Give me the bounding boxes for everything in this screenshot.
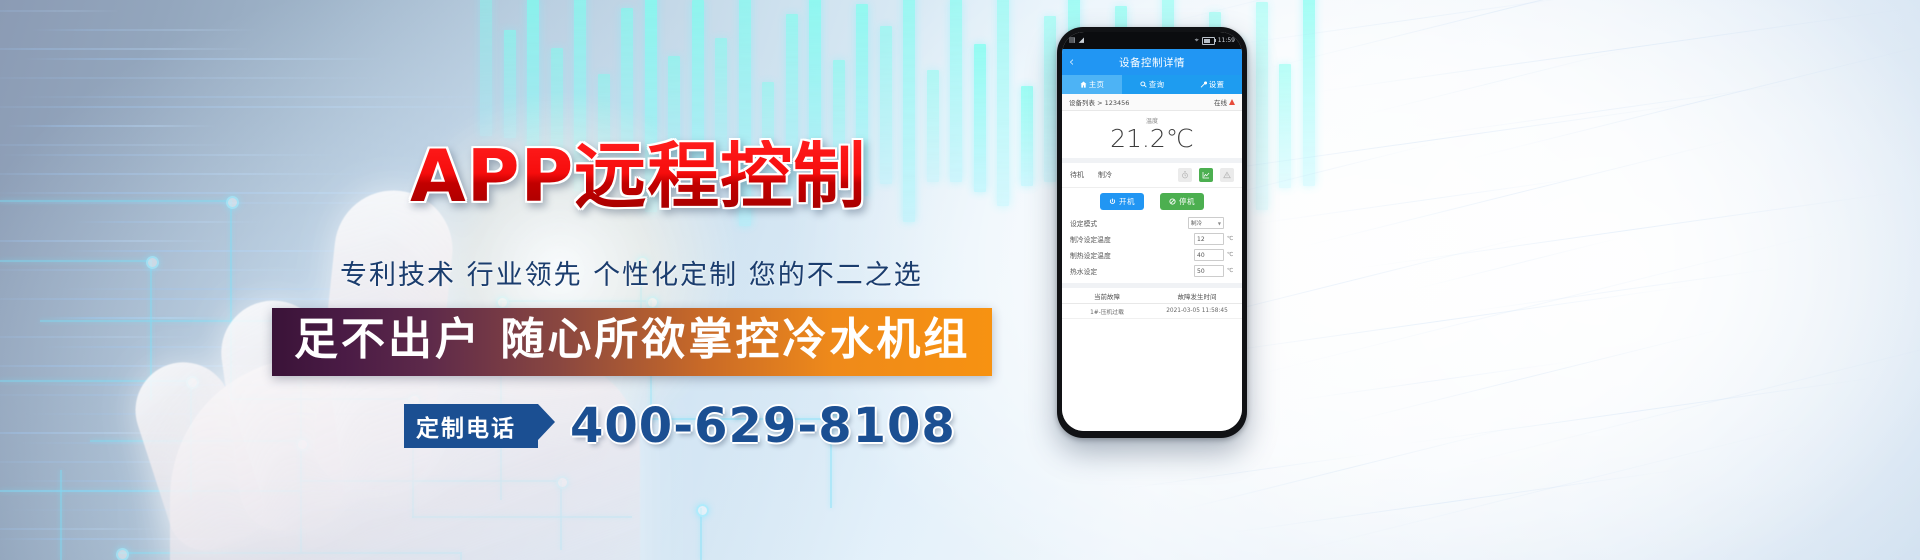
tel-number[interactable]: 400-629-8108 [570,398,956,454]
wrench-icon [1200,81,1207,88]
highlight-banner: 足不出户 随心所欲掌控冷水机组 [272,308,992,376]
setting-mode-label: 设定模式 [1070,218,1097,228]
action-buttons: 开机 停机 [1062,188,1242,214]
tab-bar: 主页 查询 设置 [1062,75,1242,94]
breadcrumb: 设备列表 > 123456 在线 [1062,94,1242,111]
sim-card-icon: ▤ [1069,37,1076,44]
status-bar-right: ⌖ 11:59 [1195,37,1235,45]
power-off-label: 停机 [1179,196,1195,207]
fault-table: 当前故障 故障发生时间 1#-压机过载 2021-03-05 11:58:45 [1062,283,1242,431]
setting-heat-temp-control: 40 ℃ [1194,249,1234,261]
fault-cell-name: 1#-压机过载 [1062,307,1152,316]
back-icon[interactable]: ‹ [1069,56,1074,69]
status-bar-time: 11:59 [1218,37,1235,44]
power-on-label: 开机 [1119,196,1135,207]
chart-icon[interactable] [1199,168,1213,182]
battery-icon [1202,37,1215,45]
tab-home-label: 主页 [1089,79,1105,90]
copy-block: APP远程控制 专利技术 行业领先 个性化定制 您的不二之选 足不出户 随心所欲… [0,0,1060,560]
temperature-display: 温度 21.2℃ [1062,111,1242,163]
tab-search-label: 查询 [1149,79,1165,90]
fault-col-name: 当前故障 [1062,291,1152,301]
device-status-label: 在线 [1214,97,1227,107]
chevron-down-icon: ▼ [1218,221,1221,226]
fault-cell-time: 2021-03-05 11:58:45 [1152,308,1242,314]
status-bar: ▤ ◢ ⌖ 11:59 [1062,32,1242,49]
banner-stage: APP远程控制 专利技术 行业领先 个性化定制 您的不二之选 足不出户 随心所欲… [0,0,1920,560]
phone-mockup: ▤ ◢ ⌖ 11:59 ‹ 设备控制详情 主页 [1057,27,1247,438]
state-row: 待机 制冷 [1062,163,1242,188]
fault-col-time: 故障发生时间 [1152,291,1242,301]
cool-temp-unit: ℃ [1227,236,1234,242]
settings-list: 设定模式 制冷 ▼ 制冷设定温度 12 ℃ [1062,214,1242,283]
setting-mode-row: 设定模式 制冷 ▼ [1070,215,1234,231]
alarm-icon[interactable] [1220,168,1234,182]
phone-line: 定制电话 400-629-8108 [404,398,956,454]
icon-button-group [1178,168,1234,182]
warning-triangle-icon [1229,99,1235,105]
setting-hotwater-control: 50 ℃ [1194,265,1234,277]
subtitle: 专利技术 行业领先 个性化定制 您的不二之选 [340,253,923,292]
timer-icon[interactable] [1178,168,1192,182]
hotwater-input[interactable]: 50 [1194,265,1224,277]
tab-search[interactable]: 查询 [1122,75,1182,94]
power-off-button[interactable]: 停机 [1160,193,1204,210]
heat-temp-unit: ℃ [1227,252,1234,258]
machine-state: 待机 [1070,170,1084,180]
power-icon [1109,198,1116,205]
tab-settings[interactable]: 设置 [1182,75,1242,94]
status-bar-left: ▤ ◢ [1069,37,1084,44]
setting-mode-control: 制冷 ▼ [1188,217,1234,229]
tab-home[interactable]: 主页 [1062,75,1122,94]
setting-heat-temp-row: 制热设定温度 40 ℃ [1070,247,1234,263]
phone-screen: ▤ ◢ ⌖ 11:59 ‹ 设备控制详情 主页 [1062,32,1242,431]
page-title: APP远程控制 [410,140,866,212]
setting-cool-temp-control: 12 ℃ [1194,233,1234,245]
machine-mode: 制冷 [1098,170,1112,180]
setting-heat-temp-label: 制热设定温度 [1070,250,1111,260]
power-on-button[interactable]: 开机 [1100,193,1144,210]
device-status: 在线 [1214,97,1235,107]
stop-icon [1169,198,1176,205]
search-icon [1140,81,1147,88]
setting-hotwater-label: 热水设定 [1070,266,1097,276]
heat-temp-input[interactable]: 40 [1194,249,1224,261]
signal-icon: ◢ [1079,37,1084,44]
temperature-value: 21.2℃ [1062,126,1242,151]
breadcrumb-path[interactable]: 设备列表 > 123456 [1069,97,1129,107]
location-icon: ⌖ [1195,37,1199,44]
mode-select[interactable]: 制冷 ▼ [1188,217,1224,229]
nav-title: 设备控制详情 [1062,55,1242,70]
mode-select-value: 制冷 [1191,219,1202,227]
cool-temp-input[interactable]: 12 [1194,233,1224,245]
fault-table-header: 当前故障 故障发生时间 [1062,288,1242,304]
setting-cool-temp-label: 制冷设定温度 [1070,234,1111,244]
hotwater-unit: ℃ [1227,268,1234,274]
setting-cool-temp-row: 制冷设定温度 12 ℃ [1070,231,1234,247]
tab-settings-label: 设置 [1209,79,1225,90]
tel-label-tag: 定制电话 [404,404,538,448]
nav-bar: ‹ 设备控制详情 [1062,49,1242,75]
home-icon [1080,81,1087,88]
table-row[interactable]: 1#-压机过载 2021-03-05 11:58:45 [1062,304,1242,319]
setting-hotwater-row: 热水设定 50 ℃ [1070,263,1234,279]
